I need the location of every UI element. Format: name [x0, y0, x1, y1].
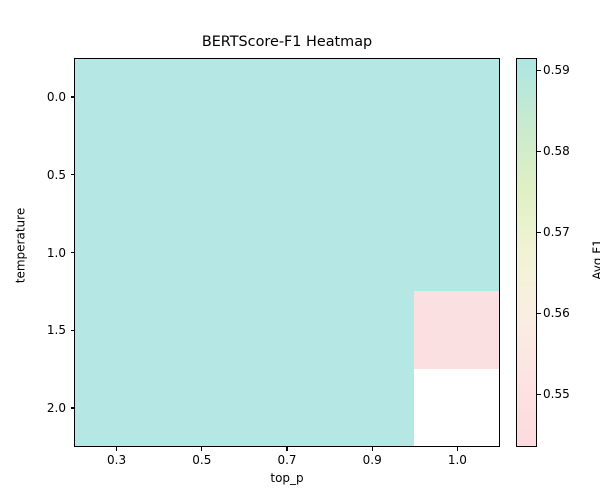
y-axis-tick-label: 1.0 [47, 246, 66, 260]
heatmap-cell[interactable] [414, 136, 499, 213]
colorbar-gradient [516, 58, 537, 447]
heatmap-cell[interactable] [414, 214, 499, 291]
heatmap-cell[interactable] [414, 369, 499, 446]
heatmap-cell[interactable] [329, 136, 414, 213]
colorbar-tick-mark [537, 313, 541, 314]
x-axis-tick-mark [457, 447, 458, 451]
heatmap-cell[interactable] [329, 291, 414, 368]
x-axis-label: top_p [74, 471, 500, 486]
x-axis-tick-label: 0.3 [87, 453, 147, 467]
heatmap-cell[interactable] [414, 291, 499, 368]
colorbar-tick-label: 0.55 [543, 387, 570, 401]
heatmap-cell[interactable] [75, 136, 160, 213]
heatmap-cell[interactable] [414, 59, 499, 136]
y-axis-tick-label: 1.5 [47, 323, 66, 337]
chart-title: BERTScore-F1 Heatmap [74, 33, 500, 51]
heatmap-cell[interactable] [245, 59, 330, 136]
colorbar-tick-label: 0.58 [543, 144, 570, 158]
heatmap-cell[interactable] [75, 214, 160, 291]
heatmap-cell[interactable] [75, 369, 160, 446]
y-axis-label: temperature [14, 176, 29, 316]
y-axis-tick-mark [71, 330, 75, 331]
heatmap-cell[interactable] [245, 214, 330, 291]
colorbar-label: Avg F1 [591, 180, 600, 340]
heatmap-cell[interactable] [245, 136, 330, 213]
colorbar-tick-mark [537, 70, 541, 71]
heatmap-cell[interactable] [329, 59, 414, 136]
heatmap-cell[interactable] [75, 59, 160, 136]
y-axis-tick-mark [71, 174, 75, 175]
y-axis-tick-mark [71, 252, 75, 253]
heatmap-cell[interactable] [245, 291, 330, 368]
heatmap-cell[interactable] [160, 59, 245, 136]
heatmap-cell[interactable] [329, 369, 414, 446]
colorbar-tick-mark [537, 151, 541, 152]
figure-canvas: BERTScore-F1 Heatmap 0.30.50.70.91.0 0.0… [0, 0, 600, 500]
colorbar-tick-label: 0.56 [543, 306, 570, 320]
y-axis-tick-label: 0.5 [47, 168, 66, 182]
x-axis-tick-label: 0.7 [257, 453, 317, 467]
x-axis-tick-label: 0.5 [172, 453, 232, 467]
heatmap-cell[interactable] [329, 214, 414, 291]
heatmap-cell[interactable] [160, 369, 245, 446]
y-axis-tick-label: 2.0 [47, 401, 66, 415]
heatmap-plot-area[interactable] [74, 58, 500, 447]
x-axis-tick-mark [116, 447, 117, 451]
y-axis-tick-mark [71, 407, 75, 408]
heatmap-cell[interactable] [245, 369, 330, 446]
colorbar-tick-mark [537, 232, 541, 233]
x-axis-tick-label: 1.0 [427, 453, 487, 467]
heatmap-cell[interactable] [75, 291, 160, 368]
y-axis-tick-mark [71, 96, 75, 97]
x-axis-tick-mark [201, 447, 202, 451]
heatmap-cell[interactable] [160, 214, 245, 291]
y-axis-tick-label: 0.0 [47, 90, 66, 104]
colorbar-tick-label: 0.59 [543, 63, 570, 77]
heatmap-grid [75, 59, 499, 446]
colorbar-tick-label: 0.57 [543, 225, 570, 239]
heatmap-cell[interactable] [160, 136, 245, 213]
colorbar-tick-mark [537, 394, 541, 395]
x-axis-tick-mark [286, 447, 287, 451]
heatmap-cell[interactable] [160, 291, 245, 368]
x-axis-tick-mark [372, 447, 373, 451]
x-axis-tick-label: 0.9 [342, 453, 402, 467]
colorbar[interactable] [516, 58, 537, 447]
